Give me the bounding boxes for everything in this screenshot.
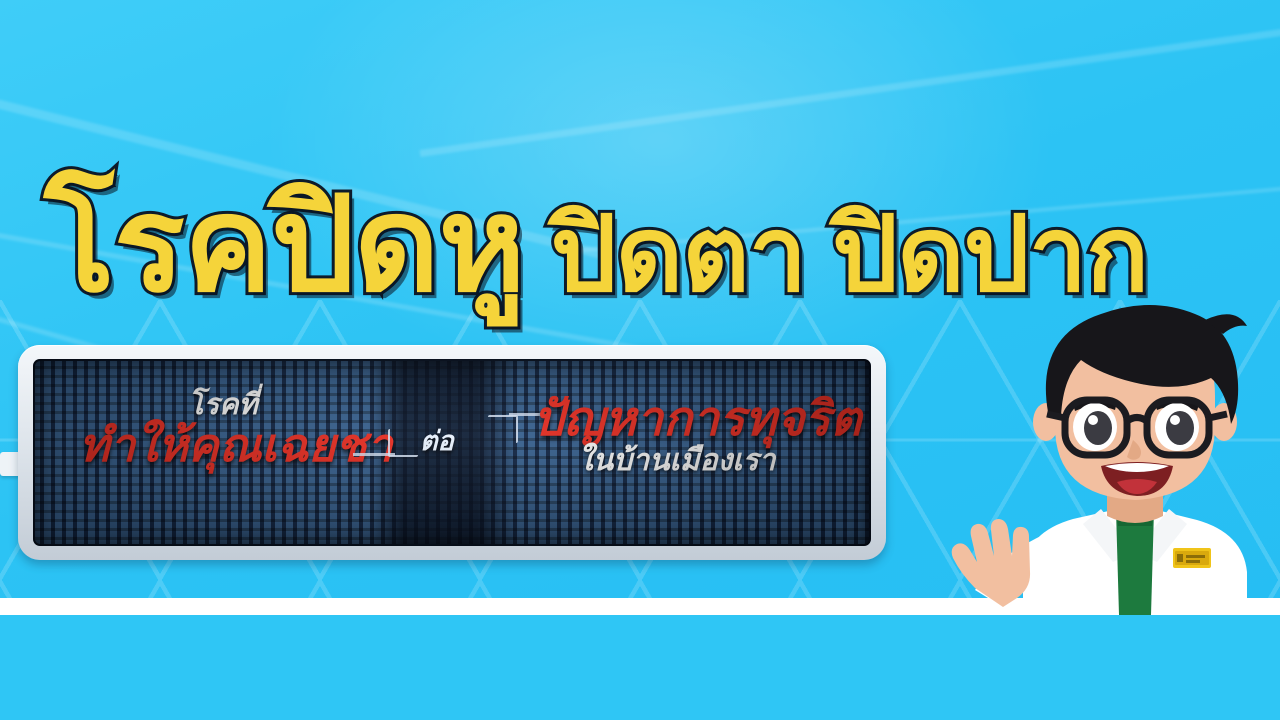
connector-bracket-left [388,429,418,457]
banner-root: โรคปิดหู ปิดตา ปิดปาก โรคที่ ทำให้คุณเฉย… [0,0,1280,720]
led-text-left-line2: ทำให้คุณเฉยชา [79,409,392,482]
character-illustration [905,300,1280,615]
character-head [1033,305,1247,500]
led-screen-text: โรคที่ ทำให้คุณเฉยชา ต่อ ปัญหาการทุจริต … [33,359,871,546]
led-screen: โรคที่ ทำให้คุณเฉยชา ต่อ ปัญหาการทุจริต … [33,359,871,546]
bottom-background [0,615,1280,720]
headline-word-3: ปิดปาก [832,205,1148,308]
character-hand [952,519,1030,607]
led-text-right-line2: ในบ้านเมืองเรา [578,437,775,484]
character-body [1023,509,1247,615]
headline-word-1: โรคปิดหู [44,183,525,308]
led-text-connector: ต่อ [420,419,454,462]
led-board: โรคที่ ทำให้คุณเฉยชา ต่อ ปัญหาการทุจริต … [18,345,886,560]
connector-bracket-right [488,415,518,443]
headline-word-2: ปิดตา [551,205,807,308]
headline: โรคปิดหู ปิดตา ปิดปาก [44,158,1264,308]
